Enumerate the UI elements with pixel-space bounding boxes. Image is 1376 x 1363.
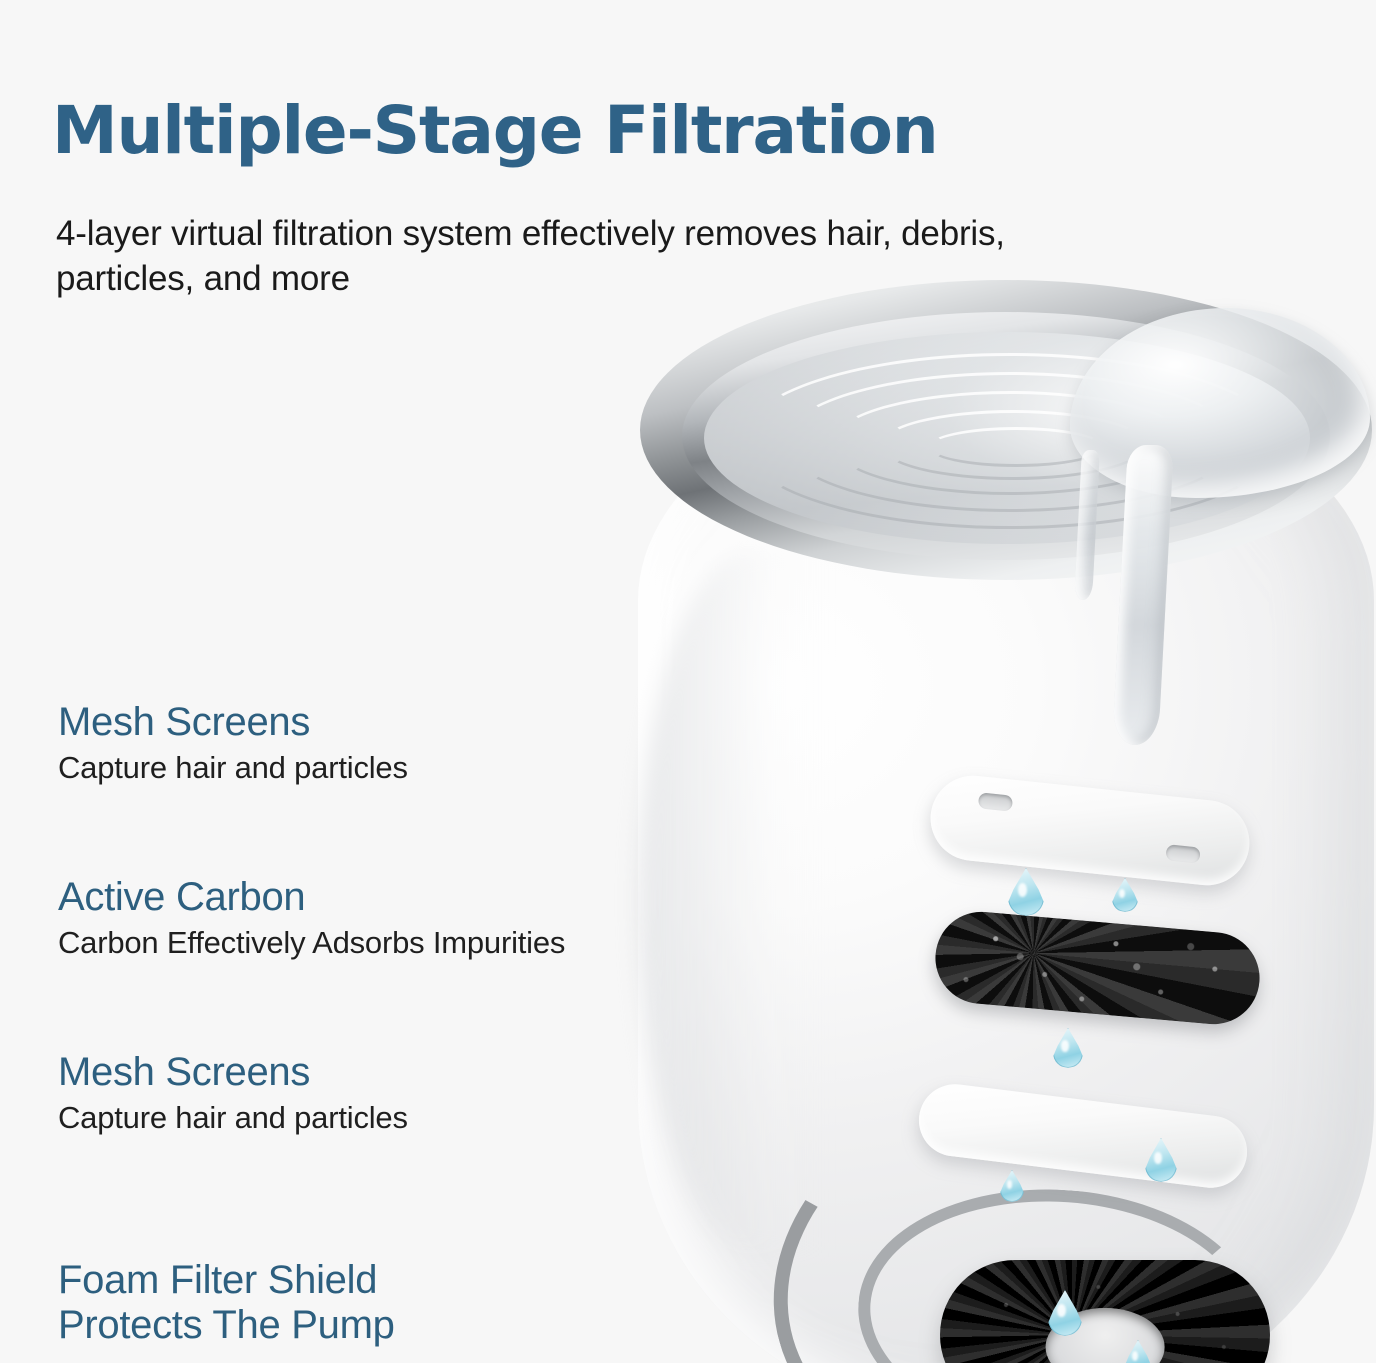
product-image-pet-water-fountain	[600, 250, 1376, 1363]
infographic-page: Multiple-Stage Filtration 4-layer virtua…	[0, 0, 1376, 1363]
page-title: Multiple-Stage Filtration	[52, 98, 938, 164]
mesh-slot-icon	[978, 792, 1013, 811]
mesh-slot-icon	[1165, 844, 1200, 863]
foam-filter-ring	[940, 1260, 1270, 1363]
